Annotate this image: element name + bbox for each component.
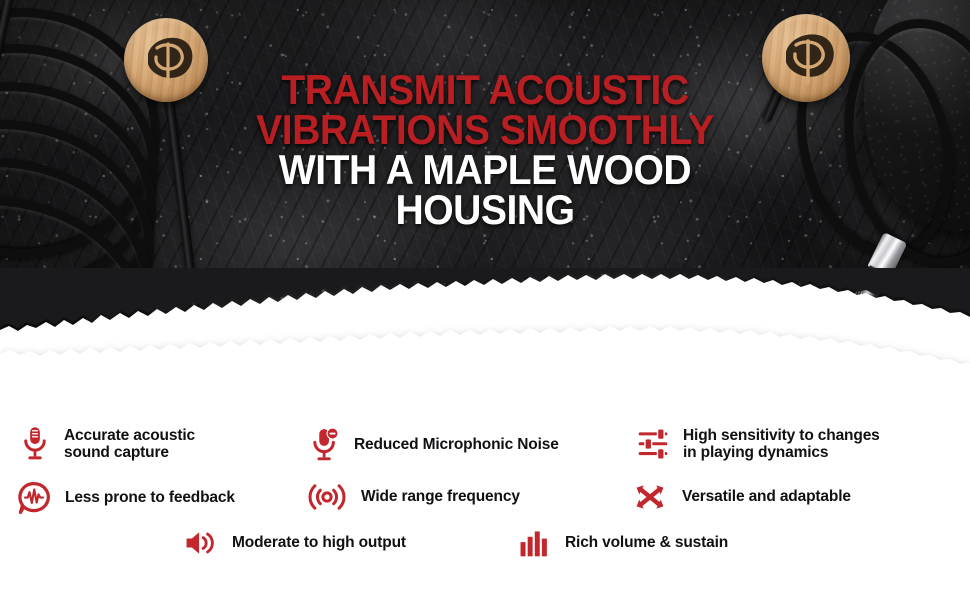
headline-line-4: HOUSING bbox=[34, 190, 936, 230]
shuffle-icon bbox=[630, 478, 670, 516]
microphone-mute-icon bbox=[308, 424, 342, 466]
signal-broadcast-icon bbox=[305, 478, 349, 516]
feature-label: Accurate acoustic sound capture bbox=[64, 427, 195, 462]
bar-levels-icon bbox=[515, 524, 551, 562]
microphone-icon bbox=[18, 422, 52, 466]
feature-moderate-to-high-output: Moderate to high output bbox=[180, 524, 406, 562]
headline-line-1: TRANSMIT ACOUSTIC bbox=[34, 70, 936, 110]
headline: TRANSMIT ACOUSTIC VIBRATIONS SMOOTHLY WI… bbox=[0, 70, 970, 230]
sliders-icon bbox=[634, 422, 672, 466]
hero-section: TRANSMIT ACOUSTIC VIBRATIONS SMOOTHLY WI… bbox=[0, 0, 970, 345]
product-feature-banner: TRANSMIT ACOUSTIC VIBRATIONS SMOOTHLY WI… bbox=[0, 0, 970, 600]
feature-label: Versatile and adaptable bbox=[682, 488, 851, 505]
feature-label: Wide range frequency bbox=[361, 488, 520, 505]
feature-reduced-microphonic-noise: Reduced Microphonic Noise bbox=[308, 424, 559, 466]
feature-label: Rich volume & sustain bbox=[565, 534, 728, 551]
feature-list: Accurate acoustic sound capture Reduced … bbox=[0, 400, 970, 600]
feature-label: Moderate to high output bbox=[232, 534, 406, 551]
feature-label: High sensitivity to changes in playing d… bbox=[683, 427, 880, 462]
headline-line-3: WITH A MAPLE WOOD bbox=[34, 150, 936, 190]
feedback-waveform-icon bbox=[14, 478, 54, 518]
feature-wide-range-frequency: Wide range frequency bbox=[305, 478, 520, 516]
feature-label: Reduced Microphonic Noise bbox=[354, 436, 559, 453]
headline-line-2: VIBRATIONS SMOOTHLY bbox=[34, 110, 936, 150]
feature-versatile-and-adaptable: Versatile and adaptable bbox=[630, 478, 851, 516]
speaker-volume-icon bbox=[180, 524, 220, 562]
feature-accurate-acoustic-sound-capture: Accurate acoustic sound capture bbox=[18, 422, 195, 466]
feature-rich-volume-and-sustain: Rich volume & sustain bbox=[515, 524, 728, 562]
feature-high-sensitivity-playing-dynamics: High sensitivity to changes in playing d… bbox=[634, 422, 880, 466]
feature-less-prone-to-feedback: Less prone to feedback bbox=[14, 478, 235, 518]
feature-label: Less prone to feedback bbox=[65, 489, 235, 506]
